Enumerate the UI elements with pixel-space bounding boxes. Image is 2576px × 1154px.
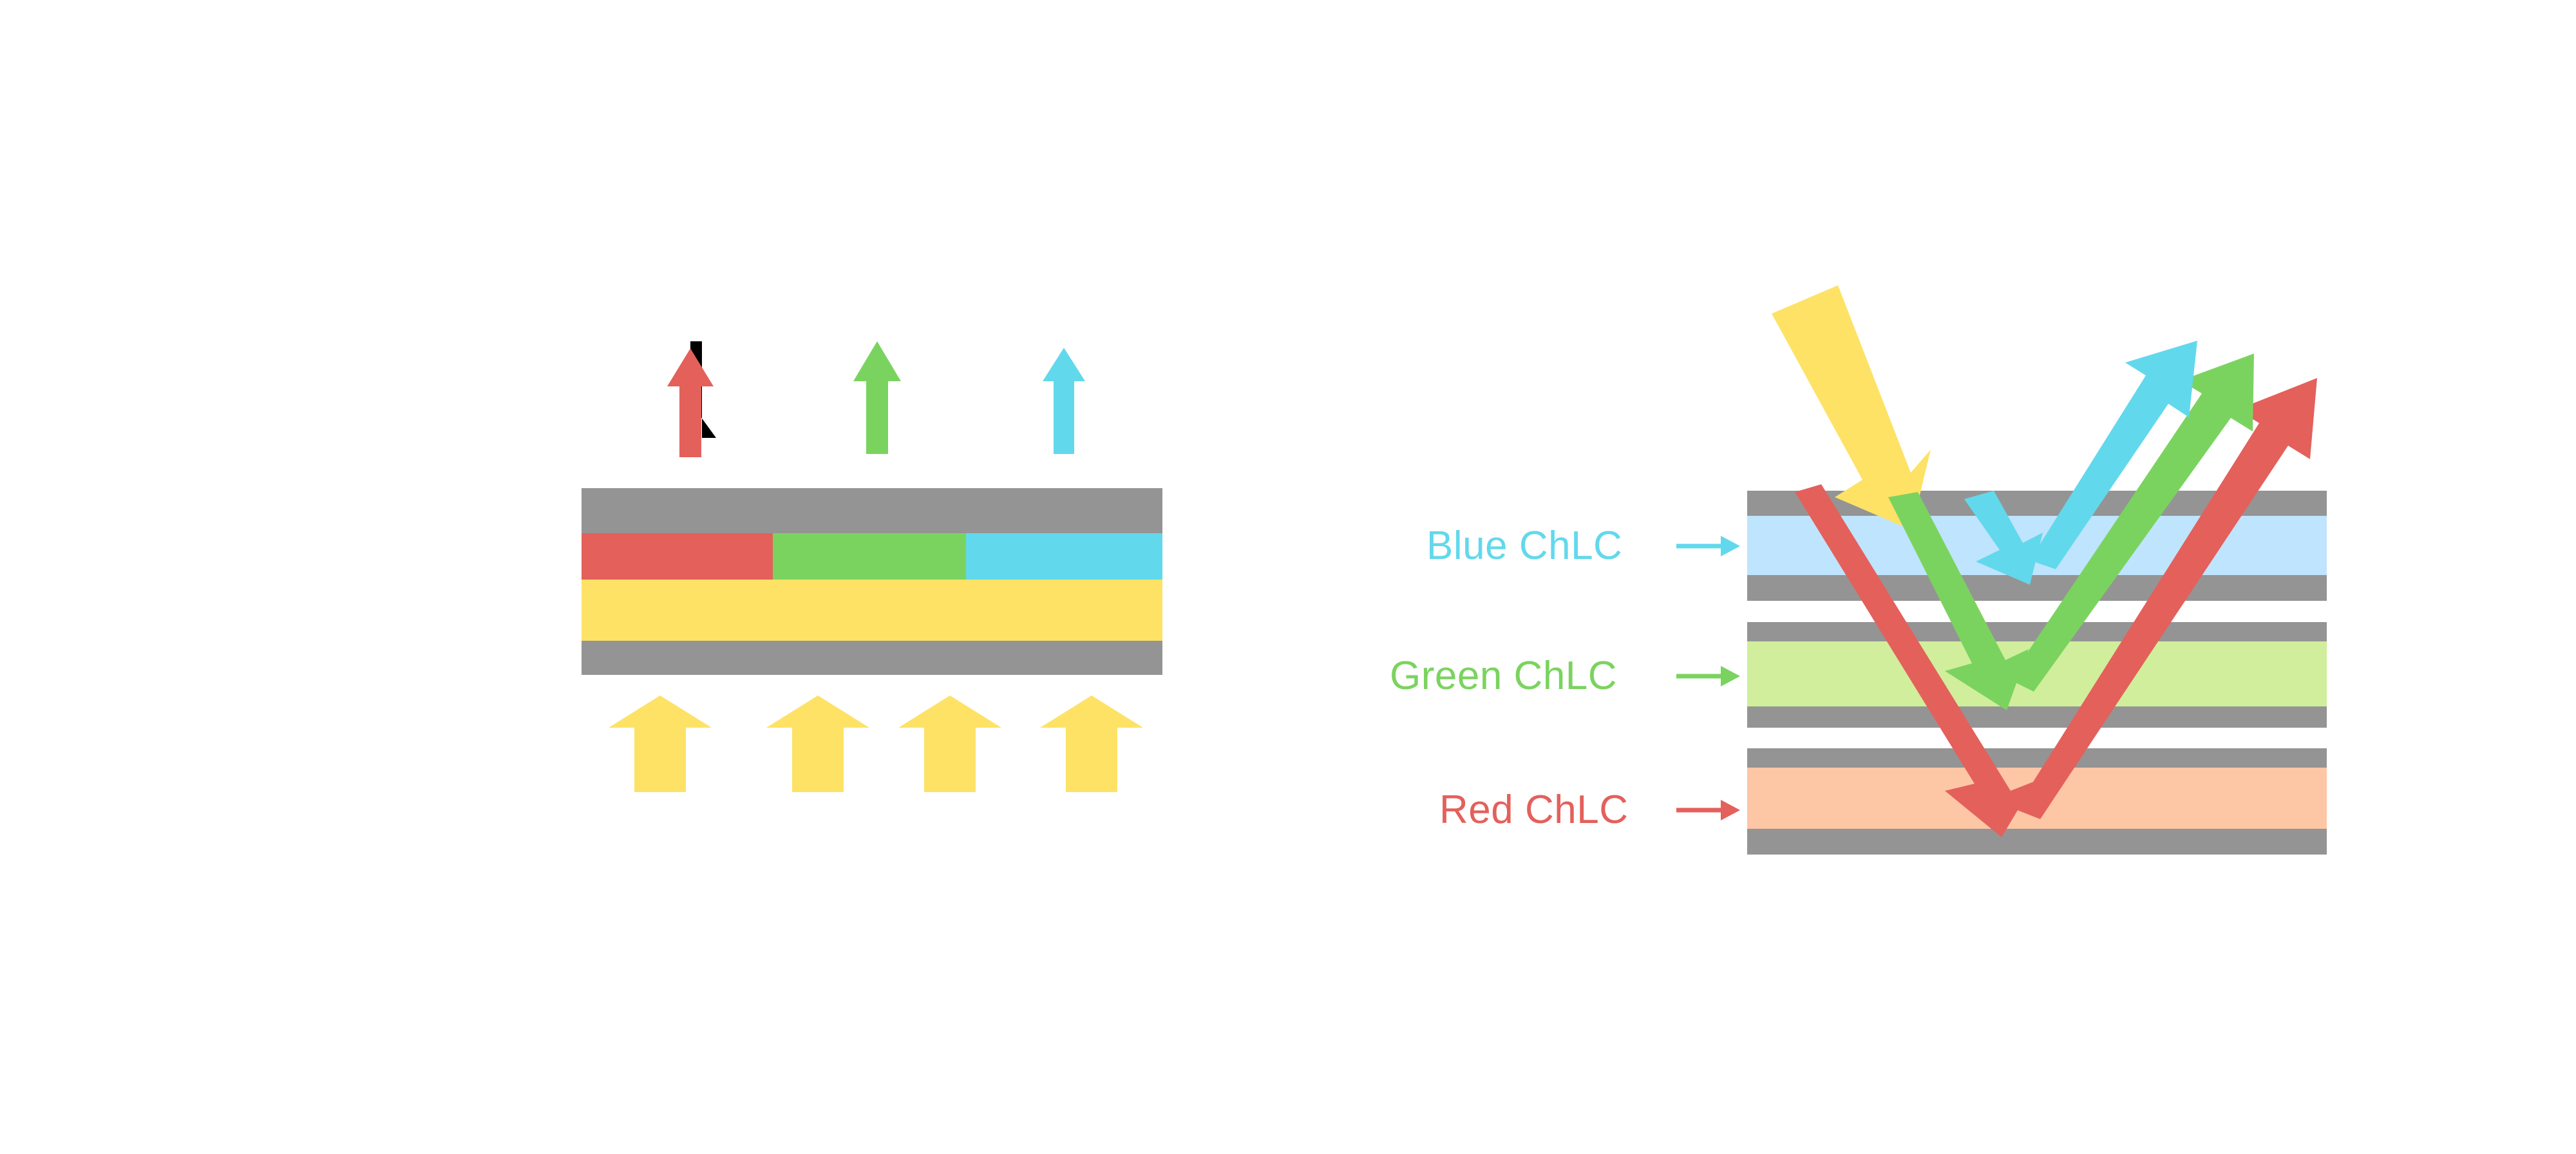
blue-cell-bottom-electrode xyxy=(1747,575,2327,601)
blue-label-leader-arrow xyxy=(1676,536,1740,556)
right-panel-graphics xyxy=(0,0,2576,1154)
green-cell-bottom-electrode xyxy=(1747,706,2327,728)
red-chlc-label: Red ChLC xyxy=(1439,787,1628,833)
green-chlc-label: Green ChLC xyxy=(1390,653,1617,699)
green-label-leader-arrow xyxy=(1676,666,1740,686)
red-cell-bottom-electrode xyxy=(1747,829,2327,855)
red-cell-top-electrode xyxy=(1747,748,2327,768)
red-label-leader-arrow xyxy=(1676,800,1740,820)
diagram-canvas: Blue ChLC Green ChLC Red ChLC xyxy=(0,0,2576,1154)
blue-chlc-label: Blue ChLC xyxy=(1426,523,1622,569)
